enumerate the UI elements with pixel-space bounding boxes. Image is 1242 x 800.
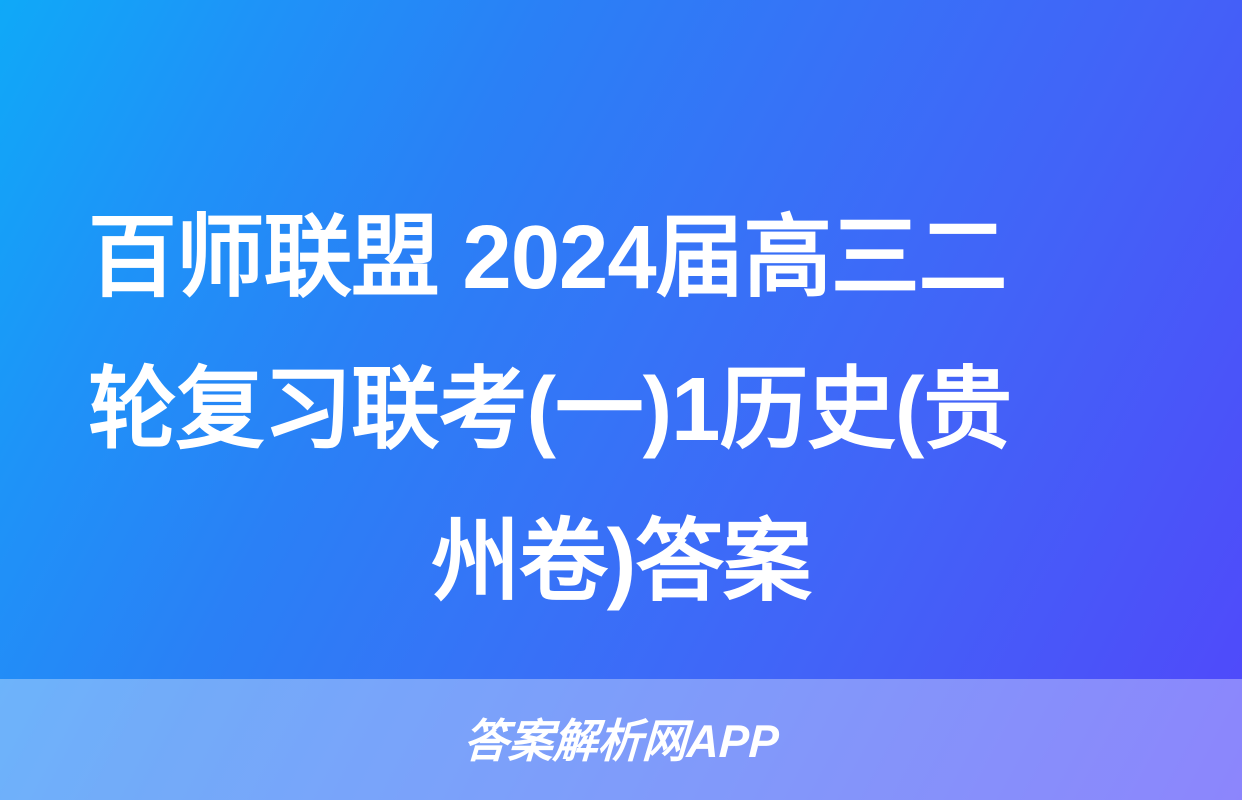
page-title: 百师联盟 2024届高三二 轮复习联考(一)1历史(贵 州卷)答案 (80, 182, 1162, 638)
watermark-app-label: 答案解析网APP (462, 718, 779, 764)
title-line-3: 州卷)答案 (88, 486, 1154, 638)
footer-watermark-band: 答案解析网APP (0, 679, 1242, 800)
title-line-2: 轮复习联考(一)1历史(贵 (88, 334, 1154, 486)
title-line-1: 百师联盟 2024届高三二 (88, 182, 1154, 334)
poster-canvas: 百师联盟 2024届高三二 轮复习联考(一)1历史(贵 州卷)答案 答案解析网A… (0, 0, 1242, 800)
